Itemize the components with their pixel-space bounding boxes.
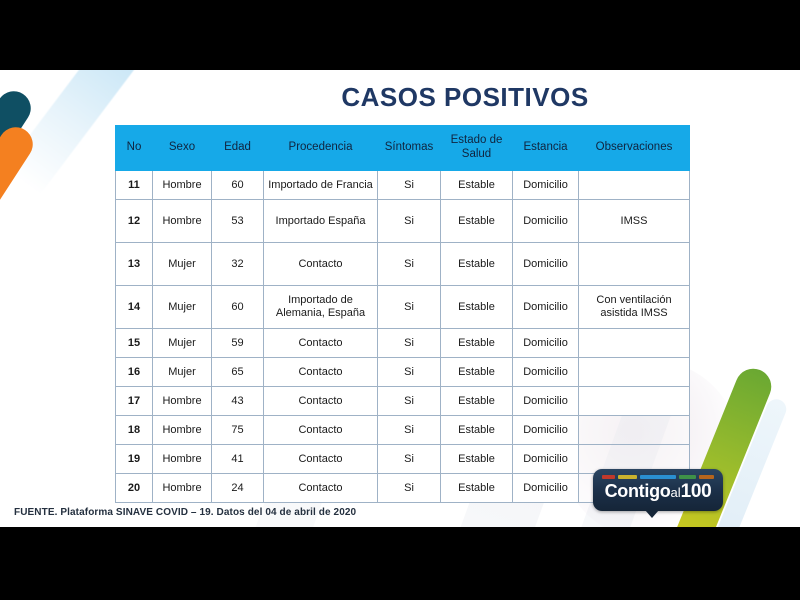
page-title: CASOS POSITIVOS <box>0 82 800 113</box>
cell-edad: 60 <box>212 171 264 200</box>
logo-text-number: 100 <box>681 481 712 502</box>
cell-no: 18 <box>116 416 153 445</box>
column-header-no: No <box>116 126 153 171</box>
logo-text-main: Contigo <box>605 481 671 501</box>
logo-text-mid: al <box>670 485 680 500</box>
cell-edad: 60 <box>212 286 264 329</box>
cell-observaciones <box>579 387 690 416</box>
cell-no: 20 <box>116 474 153 503</box>
cell-estado-salud: Estable <box>441 416 513 445</box>
cell-sexo: Hombre <box>153 474 212 503</box>
cell-no: 13 <box>116 243 153 286</box>
column-header-sexo: Sexo <box>153 126 212 171</box>
cell-estancia: Domicilio <box>513 358 579 387</box>
estado-salud-line2: Salud <box>462 148 491 160</box>
cell-estado-salud: Estable <box>441 243 513 286</box>
cell-no: 11 <box>116 171 153 200</box>
cell-edad: 24 <box>212 474 264 503</box>
cell-procedencia: Importado de Alemania, España <box>264 286 378 329</box>
cell-estado-salud: Estable <box>441 200 513 243</box>
cell-estancia: Domicilio <box>513 329 579 358</box>
cell-estancia: Domicilio <box>513 286 579 329</box>
logo-text: Contigoal100 <box>593 481 723 503</box>
cell-sintomas: Si <box>378 286 441 329</box>
cell-estancia: Domicilio <box>513 445 579 474</box>
table-header-row: No Sexo Edad Procedencia Síntomas Estado… <box>116 126 690 171</box>
cell-estado-salud: Estable <box>441 286 513 329</box>
cell-sexo: Hombre <box>153 416 212 445</box>
cell-sintomas: Si <box>378 445 441 474</box>
estado-salud-line1: Estado de <box>451 134 503 146</box>
decor-teal-bar-icon <box>0 85 37 280</box>
logo-bar-yellow-icon <box>618 475 637 479</box>
cell-procedencia: Contacto <box>264 358 378 387</box>
cell-procedencia: Contacto <box>264 329 378 358</box>
decor-orange-bar-icon <box>0 121 39 320</box>
cell-edad: 41 <box>212 445 264 474</box>
logo-bar-blue-icon <box>640 475 676 479</box>
cell-estado-salud: Estable <box>441 329 513 358</box>
table-row: 17 Hombre 43 Contacto Si Estable Domicil… <box>116 387 690 416</box>
cell-edad: 59 <box>212 329 264 358</box>
cell-estancia: Domicilio <box>513 171 579 200</box>
column-header-estancia: Estancia <box>513 126 579 171</box>
cell-no: 12 <box>116 200 153 243</box>
cell-procedencia: Contacto <box>264 416 378 445</box>
cell-observaciones <box>579 171 690 200</box>
cell-sexo: Mujer <box>153 358 212 387</box>
cell-observaciones: IMSS <box>579 200 690 243</box>
positive-cases-table: No Sexo Edad Procedencia Síntomas Estado… <box>115 125 690 503</box>
cell-estancia: Domicilio <box>513 474 579 503</box>
table-row: 11 Hombre 60 Importado de Francia Si Est… <box>116 171 690 200</box>
cell-procedencia: Contacto <box>264 474 378 503</box>
letterbox-bottom <box>0 527 800 600</box>
cell-edad: 75 <box>212 416 264 445</box>
cell-procedencia: Contacto <box>264 387 378 416</box>
slide-canvas: CASOS POSITIVOS No Sexo Edad Procedencia… <box>0 70 800 527</box>
cell-no: 19 <box>116 445 153 474</box>
cell-estado-salud: Estable <box>441 387 513 416</box>
cell-estancia: Domicilio <box>513 200 579 243</box>
cell-edad: 65 <box>212 358 264 387</box>
logo-bar-green-icon <box>679 475 696 479</box>
cell-estado-salud: Estable <box>441 171 513 200</box>
letterbox-top <box>0 0 800 70</box>
column-header-observaciones: Observaciones <box>579 126 690 171</box>
table-row: 15 Mujer 59 Contacto Si Estable Domicili… <box>116 329 690 358</box>
cell-sexo: Hombre <box>153 387 212 416</box>
cell-estado-salud: Estable <box>441 358 513 387</box>
cell-procedencia: Importado España <box>264 200 378 243</box>
cell-procedencia: Contacto <box>264 445 378 474</box>
cell-edad: 43 <box>212 387 264 416</box>
logo-bar-red-icon <box>602 475 615 479</box>
cell-estado-salud: Estable <box>441 445 513 474</box>
cell-no: 16 <box>116 358 153 387</box>
logo-color-bars-icon <box>602 475 714 479</box>
cell-observaciones <box>579 329 690 358</box>
table-row: 14 Mujer 60 Importado de Alemania, Españ… <box>116 286 690 329</box>
cell-edad: 53 <box>212 200 264 243</box>
cell-sintomas: Si <box>378 387 441 416</box>
column-header-edad: Edad <box>212 126 264 171</box>
cell-procedencia: Importado de Francia <box>264 171 378 200</box>
cell-observaciones <box>579 416 690 445</box>
table-body: 11 Hombre 60 Importado de Francia Si Est… <box>116 171 690 503</box>
cell-sintomas: Si <box>378 329 441 358</box>
cell-sexo: Mujer <box>153 329 212 358</box>
cell-observaciones <box>579 358 690 387</box>
table-row: 18 Hombre 75 Contacto Si Estable Domicil… <box>116 416 690 445</box>
cell-no: 14 <box>116 286 153 329</box>
cell-sintomas: Si <box>378 200 441 243</box>
table-row: 13 Mujer 32 Contacto Si Estable Domicili… <box>116 243 690 286</box>
cell-sexo: Mujer <box>153 286 212 329</box>
source-note: FUENTE. Plataforma SINAVE COVID – 19. Da… <box>14 507 356 518</box>
cell-sexo: Hombre <box>153 200 212 243</box>
slide-stage: CASOS POSITIVOS No Sexo Edad Procedencia… <box>0 0 800 600</box>
contigo-al-100-logo: Contigoal100 <box>593 469 723 511</box>
cell-observaciones: Con ventilación asistida IMSS <box>579 286 690 329</box>
cell-estado-salud: Estable <box>441 474 513 503</box>
cell-sintomas: Si <box>378 358 441 387</box>
cell-no: 15 <box>116 329 153 358</box>
cell-no: 17 <box>116 387 153 416</box>
column-header-sintomas: Síntomas <box>378 126 441 171</box>
cell-sintomas: Si <box>378 171 441 200</box>
table-row: 12 Hombre 53 Importado España Si Estable… <box>116 200 690 243</box>
cell-sexo: Hombre <box>153 171 212 200</box>
cell-sintomas: Si <box>378 243 441 286</box>
cell-sintomas: Si <box>378 474 441 503</box>
column-header-estado-salud: Estado de Salud <box>441 126 513 171</box>
cell-estancia: Domicilio <box>513 243 579 286</box>
column-header-procedencia: Procedencia <box>264 126 378 171</box>
table-row: 16 Mujer 65 Contacto Si Estable Domicili… <box>116 358 690 387</box>
cell-sintomas: Si <box>378 416 441 445</box>
cell-estancia: Domicilio <box>513 387 579 416</box>
cell-sexo: Hombre <box>153 445 212 474</box>
cell-edad: 32 <box>212 243 264 286</box>
cell-observaciones <box>579 243 690 286</box>
logo-bar-orange-icon <box>699 475 714 479</box>
cell-estancia: Domicilio <box>513 416 579 445</box>
cell-procedencia: Contacto <box>264 243 378 286</box>
cell-sexo: Mujer <box>153 243 212 286</box>
